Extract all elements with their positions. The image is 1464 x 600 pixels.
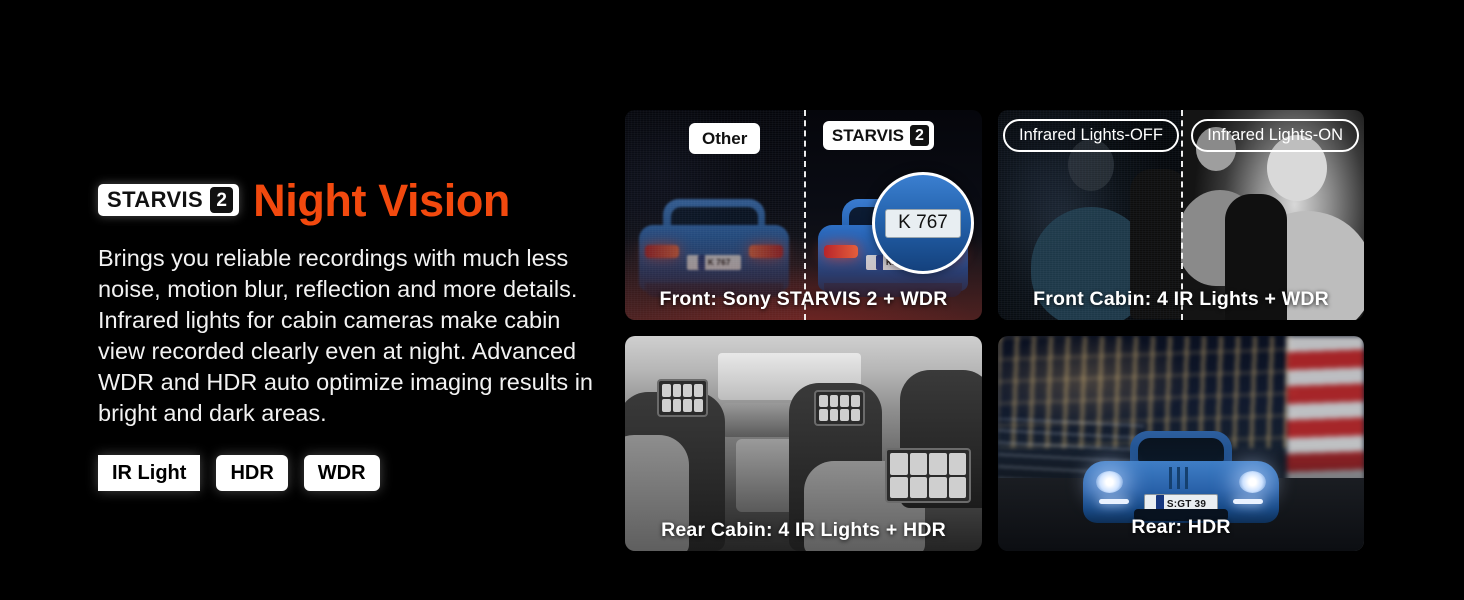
panel-rear-hdr: S:GT 39 Rear: HDR [998, 336, 1364, 551]
headlight-right [1239, 471, 1266, 493]
caption-front-cabin: Front Cabin: 4 IR Lights + WDR [998, 288, 1364, 311]
badge-other: Other [689, 123, 760, 154]
caption-rear-hdr: Rear: HDR [998, 516, 1364, 539]
night-road-scene: K 767 [625, 110, 982, 320]
caption-rear-cabin: Rear Cabin: 4 IR Lights + HDR [625, 519, 982, 542]
headrest-screen-center [814, 390, 864, 426]
feature-tag-row: IR Light HDR WDR [98, 455, 608, 491]
starvis-logo-word: STARVIS [107, 189, 203, 211]
feature-tag-hdr: HDR [216, 455, 287, 491]
magnified-plate-text: K 767 [885, 209, 961, 238]
badge-starvis-word: STARVIS [832, 127, 904, 144]
panel-rear-cabin: Rear Cabin: 4 IR Lights + HDR [625, 336, 982, 551]
headrest-screen-right [885, 448, 971, 504]
caption-front-starvis: Front: Sony STARVIS 2 + WDR [625, 288, 982, 311]
headrest-screen-left [657, 379, 707, 417]
copy-block: STARVIS 2 Night Vision Brings you reliab… [98, 176, 608, 491]
badge-infrared-on: Infrared Lights-ON [1191, 119, 1359, 152]
body-paragraph: Brings you reliable recordings with much… [98, 243, 598, 429]
heading-row: STARVIS 2 Night Vision [98, 176, 608, 224]
night-street-scene: S:GT 39 Rear: HDR [998, 336, 1364, 551]
page-title: Night Vision [253, 178, 510, 223]
center-console [736, 439, 797, 512]
feature-tag-wdr: WDR [304, 455, 380, 491]
product-feature-banner: STARVIS 2 Night Vision Brings you reliab… [0, 0, 1464, 600]
image-grid: K 767 [625, 110, 1364, 551]
panel-front-cabin: Infrared Lights-OFF Infrared Lights-ON F… [998, 110, 1364, 320]
drl-right [1233, 499, 1263, 504]
drl-left [1099, 499, 1129, 504]
feature-tag-ir-light: IR Light [98, 455, 200, 491]
starvis-logo-badge: STARVIS 2 [98, 184, 239, 216]
starvis-logo-number: 2 [210, 187, 233, 213]
badge-starvis-2: STARVIS 2 [823, 121, 934, 150]
sports-car: S:GT 39 [1083, 431, 1279, 523]
rear-cabin-scene: Rear Cabin: 4 IR Lights + HDR [625, 336, 982, 551]
headlight-left [1096, 471, 1123, 493]
panel-front-starvis: K 767 [625, 110, 982, 320]
front-cabin-scene: Infrared Lights-OFF Infrared Lights-ON F… [998, 110, 1364, 320]
badge-infrared-off: Infrared Lights-OFF [1003, 119, 1179, 152]
badge-starvis-number: 2 [910, 125, 929, 146]
plate-magnifier: K 767 [872, 172, 974, 274]
